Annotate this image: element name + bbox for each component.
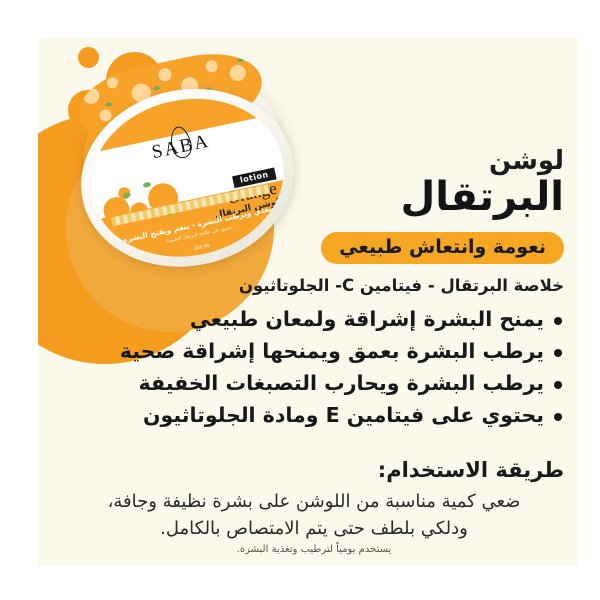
list-item: يرطب البشرة ويحارب التصبغات الخفيفة	[44, 370, 564, 397]
list-item: يحتوي على فيتامين E ومادة الجلوتاثيون	[44, 402, 564, 429]
product-title-line1: لوشن	[489, 146, 564, 176]
usage-footnote: يستخدم يومياً لترطيب وتغذية البشرة.	[64, 544, 564, 555]
usage-heading: طريقة الاستخدام:	[378, 458, 564, 482]
ingredients-line: خلاصة البرتقال - فيتامين C- الجلوتاثيون	[239, 276, 564, 295]
content-panel: SABA Orange Lotion	[38, 38, 578, 566]
usage-instructions: ضعي كمية مناسبة من اللوشن على بشرة نظيفة…	[64, 488, 564, 542]
product-advertisement-poster: SABA Orange Lotion	[0, 0, 600, 600]
product-title-line2: البرتقال	[401, 174, 564, 220]
tagline-badge: نعومة وانتعاش طبيعي	[321, 232, 564, 264]
usage-line-1: ضعي كمية مناسبة من اللوشن على بشرة نظيفة…	[64, 488, 564, 515]
usage-line-2: ودلكي بلطف حتى يتم الامتصاص بالكامل.	[64, 515, 564, 542]
benefits-list: يمنح البشرة إشراقة ولمعان طبيعي يرطب الب…	[44, 306, 564, 434]
list-item: يرطب البشرة بعمق ويمنحها إشراقة صحية	[44, 338, 564, 365]
list-item: يمنح البشرة إشراقة ولمعان طبيعي	[44, 306, 564, 333]
text-content-column: لوشن البرتقال نعومة وانتعاش طبيعي خلاصة …	[38, 38, 578, 566]
